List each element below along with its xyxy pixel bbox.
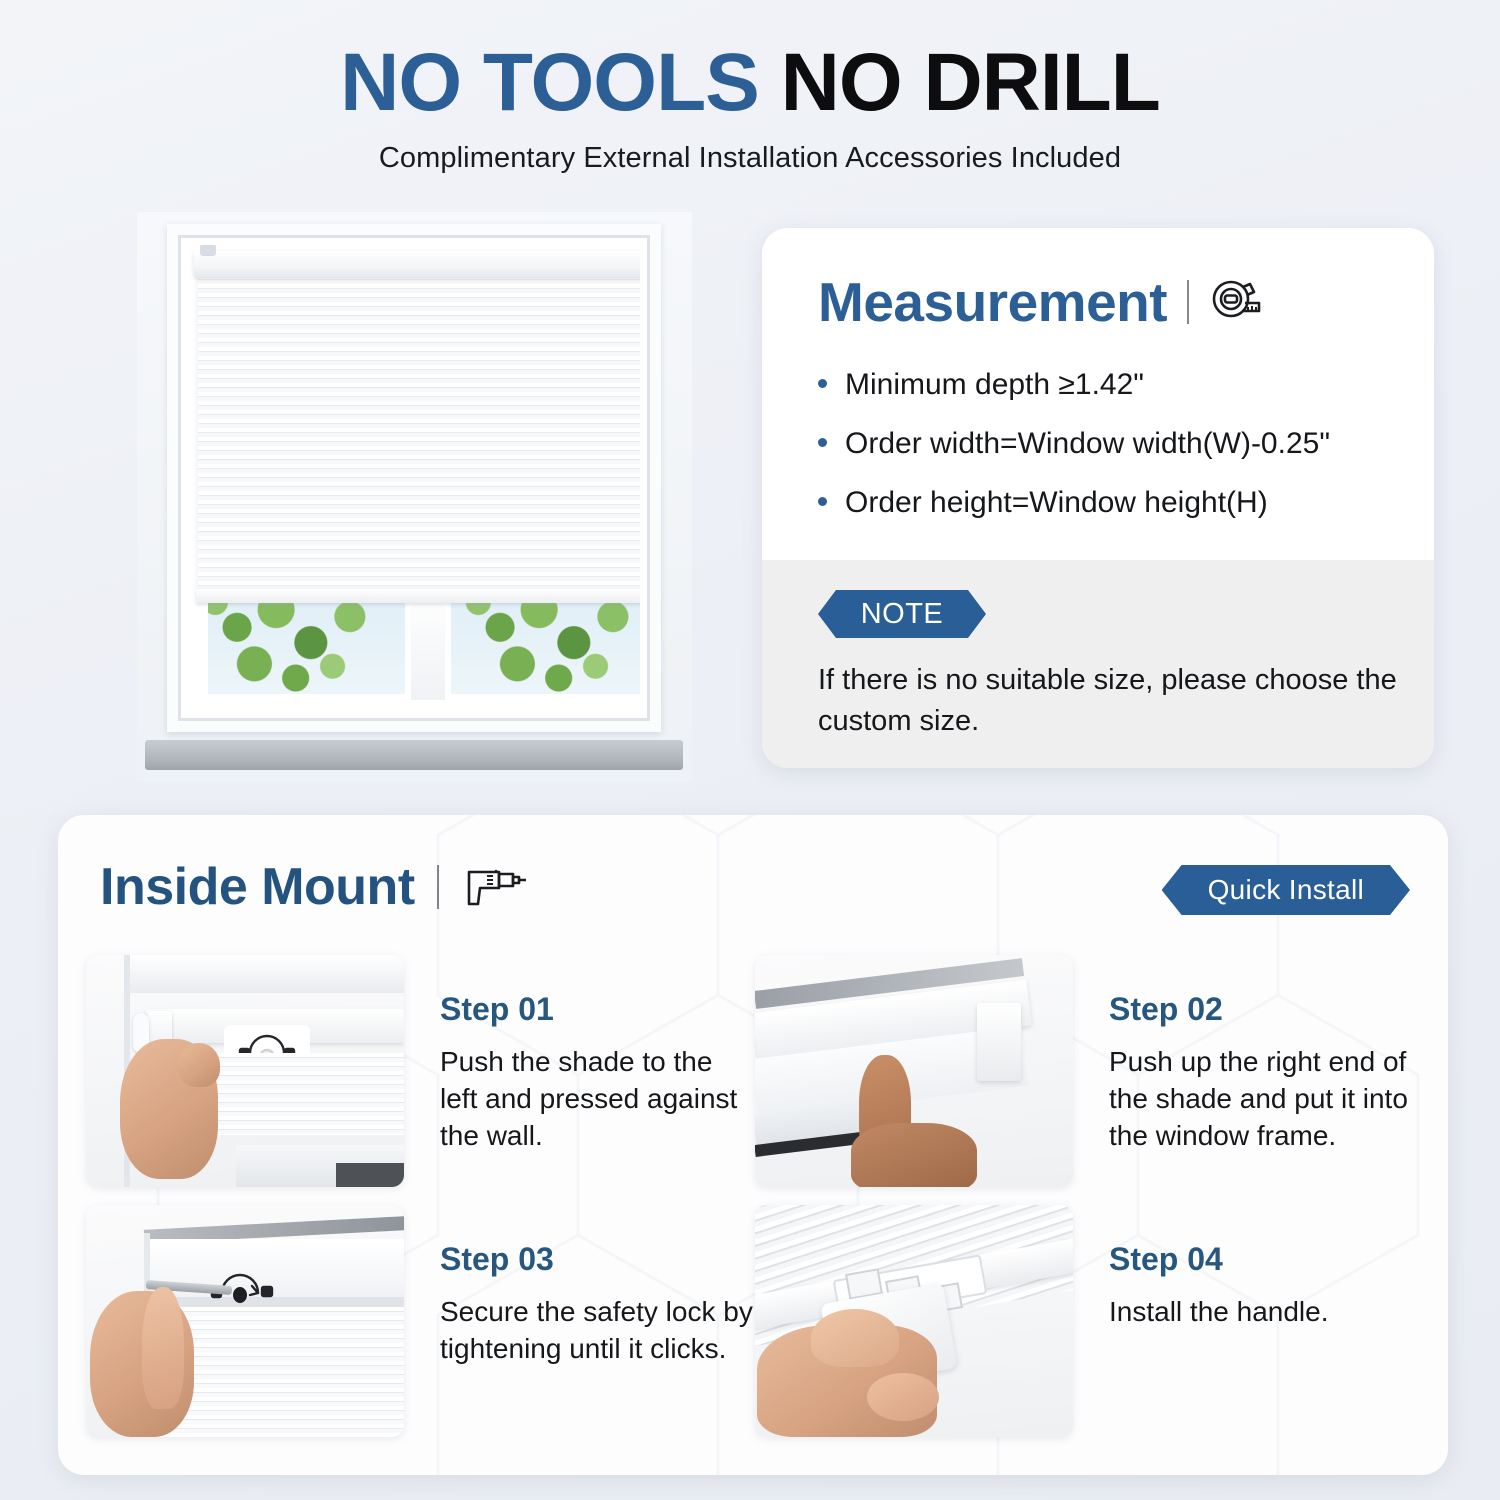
list-item: Minimum depth ≥1.42" [818, 368, 1434, 402]
foliage-view [445, 590, 640, 700]
title-divider [437, 865, 439, 909]
step-description: Push up the right end of the shade and p… [1109, 1044, 1424, 1155]
bullet-text: Order width=Window width(W)-0.25" [845, 427, 1330, 461]
note-badge: NOTE [818, 590, 986, 638]
subheadline: Complimentary External Installation Acce… [0, 142, 1500, 175]
step-label: Step 03 [440, 1241, 755, 1278]
title-divider [1187, 280, 1189, 324]
step-item-01: Step 01 Push the shade to the left and p… [86, 955, 755, 1205]
foliage-view [202, 590, 411, 700]
measurement-card: Measurement Minimum depth ≥1. [762, 228, 1434, 768]
bullet-dot-icon [818, 497, 827, 506]
drill-icon [461, 862, 527, 913]
photo-art [86, 1205, 404, 1437]
window-shade-photo [137, 212, 692, 782]
window-opening [188, 245, 640, 711]
step-text-04: Step 04 Install the handle. [1073, 1205, 1329, 1455]
list-item: Order width=Window width(W)-0.25" [818, 427, 1434, 461]
shade-headrail [194, 251, 640, 277]
headline-blue: NO TOOLS [340, 37, 759, 128]
window-glass [202, 590, 640, 700]
quick-install-ribbon: Quick Install [1162, 865, 1410, 915]
step-item-02: Step 02 Push up the right end of the sha… [755, 955, 1424, 1205]
hand-pushing-headrail-left-photo [86, 955, 404, 1187]
steps-grid: Step 01 Push the shade to the left and p… [86, 955, 1424, 1455]
inside-mount-header: Inside Mount [100, 857, 527, 917]
photo-art [755, 1205, 1073, 1437]
window-frame [167, 224, 661, 732]
measurement-title-row: Measurement [818, 270, 1434, 334]
step-item-03: Step 03 Secure the safety lock by tighte… [86, 1205, 755, 1455]
list-item: Order height=Window height(H) [818, 486, 1434, 520]
hand-installing-handle-photo [755, 1205, 1073, 1437]
photo-art [86, 955, 404, 1187]
step-text-01: Step 01 Push the shade to the left and p… [404, 955, 755, 1205]
step-text-02: Step 02 Push up the right end of the sha… [1073, 955, 1424, 1205]
window-mullion [411, 590, 445, 700]
measurement-body: Measurement Minimum depth ≥1. [762, 228, 1434, 560]
photo-art [755, 955, 1073, 1187]
hand-pushing-shade-into-frame-photo [755, 955, 1073, 1187]
bullet-dot-icon [818, 438, 827, 447]
step-description: Install the handle. [1109, 1294, 1329, 1331]
note-section: NOTE If there is no suitable size, pleas… [762, 560, 1434, 768]
step-label: Step 02 [1109, 991, 1424, 1028]
header: NO TOOLS NO DRILL Complimentary External… [0, 40, 1500, 175]
hand-tightening-safety-lock-photo [86, 1205, 404, 1437]
note-text: If there is no suitable size, please cho… [818, 660, 1398, 742]
measurement-bullets: Minimum depth ≥1.42" Order width=Window … [818, 368, 1434, 520]
window-sill [145, 740, 683, 770]
right-sash [445, 590, 640, 700]
inside-mount-card: Inside Mount Quick Install [58, 815, 1448, 1475]
step-item-04: Step 04 Install the handle. [755, 1205, 1424, 1455]
section-title: Inside Mount [100, 857, 415, 917]
infographic-page: NO TOOLS NO DRILL Complimentary External… [0, 0, 1500, 1500]
left-sash [202, 590, 411, 700]
step-text-03: Step 03 Secure the safety lock by tighte… [404, 1205, 755, 1455]
headline-dark: NO DRILL [781, 37, 1160, 128]
measurement-title: Measurement [818, 270, 1167, 334]
step-label: Step 01 [440, 991, 755, 1028]
bullet-text: Order height=Window height(H) [845, 486, 1268, 520]
step-description: Secure the safety lock by tightening unt… [440, 1294, 755, 1368]
tape-measure-icon [1209, 277, 1269, 328]
step-description: Push the shade to the left and pressed a… [440, 1044, 755, 1155]
bullet-dot-icon [818, 379, 827, 388]
bullet-text: Minimum depth ≥1.42" [845, 368, 1144, 402]
shade-bottom-rail [196, 589, 640, 603]
cellular-shade [198, 275, 640, 593]
step-label: Step 04 [1109, 1241, 1329, 1278]
page-title: NO TOOLS NO DRILL [0, 40, 1500, 126]
